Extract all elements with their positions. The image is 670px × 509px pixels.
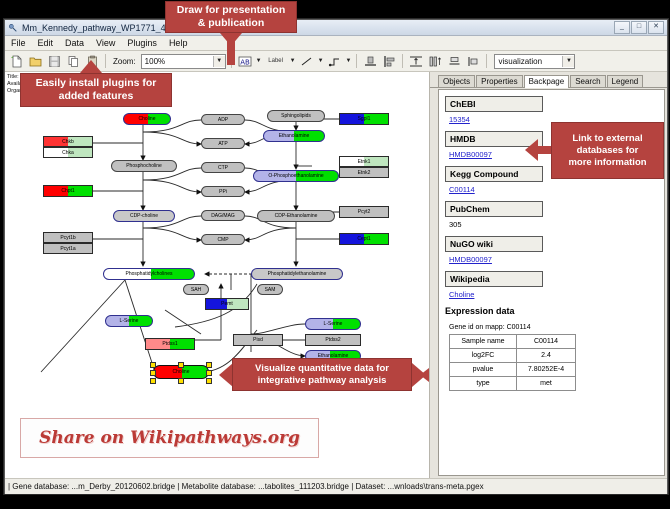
node-phosphatidylethanolamine[interactable]: Phosphatidylethanolamine (251, 268, 343, 280)
minimize-button[interactable]: _ (614, 21, 630, 34)
callout-link-arrow-icon (525, 139, 538, 161)
chevron-down-icon[interactable]: ▼ (213, 56, 225, 67)
pathvisio-app-icon (8, 23, 18, 33)
callout-draw-stem (227, 33, 235, 65)
connector-dropdown-icon[interactable]: ▼ (346, 58, 352, 64)
gene-chpt1[interactable]: Chpt1 (43, 185, 93, 197)
node-label: Pcyt2 (358, 209, 371, 215)
node-label: SAH (191, 287, 201, 293)
node-label: Etnk2 (358, 170, 371, 176)
node-label: CMP (217, 237, 228, 243)
node-label: Ptdss2 (325, 337, 340, 343)
node-dagmag[interactable]: DAG/MAG (201, 210, 245, 221)
toolbar-separator-5 (486, 54, 487, 68)
gene-pcyt1a[interactable]: Pcyt1a (43, 243, 93, 254)
node-label: Choline (139, 116, 156, 122)
menu-help[interactable]: Help (167, 38, 190, 48)
node-label: Pisd (253, 337, 263, 343)
gene-chka[interactable]: Chka (43, 147, 93, 158)
distribute-icon[interactable] (408, 53, 424, 69)
node-o-phosphoethanolamine[interactable]: O-Phosphoethanolamine (253, 170, 339, 182)
node-label: L-Serine (120, 318, 139, 324)
menu-edit[interactable]: Edit (36, 38, 56, 48)
menu-file[interactable]: File (9, 38, 28, 48)
node-sam[interactable]: SAM (257, 284, 283, 295)
share-text: Share on Wikipathways.org (39, 428, 300, 448)
bring-to-front-icon[interactable] (465, 53, 481, 69)
selection-handle-e[interactable] (206, 370, 212, 376)
expression-data-heading: Expression data (445, 306, 664, 316)
node-label: Chpt1 (61, 188, 74, 194)
node-ethanolamine[interactable]: Ethanolamine (263, 130, 325, 142)
node-label: Sgpl1 (358, 116, 371, 122)
visualization-combo[interactable]: visualization ▼ (494, 54, 575, 69)
callout-install-plugins: Easily install plugins for added feature… (20, 73, 172, 107)
table-row: type met (450, 377, 576, 391)
node-adp[interactable]: ADP (201, 114, 245, 125)
status-bar: | Gene database: ...m_Derby_20120602.bri… (5, 478, 667, 494)
node-label: Pcyt1a (60, 246, 75, 252)
open-folder-icon[interactable] (27, 53, 43, 69)
selection-handle-se[interactable] (206, 378, 212, 384)
node-label: L-Serine (324, 321, 343, 327)
gene-sgpl1[interactable]: Sgpl1 (339, 113, 389, 125)
callout-draw-for-publication: Draw for presentation & publication (165, 1, 297, 33)
row-key: log2FC (450, 349, 517, 363)
callout-link-stem (538, 146, 552, 154)
columns-icon[interactable] (427, 53, 443, 69)
node-label: CDP-choline (130, 213, 158, 219)
visualization-value: visualization (498, 57, 542, 66)
callout-visualize-arrow-left-icon (219, 363, 233, 387)
copy-icon[interactable] (65, 53, 81, 69)
node-label: Phosphatidylethanolamine (268, 271, 327, 277)
node-atp[interactable]: ATP (201, 138, 245, 149)
node-label: Phosphocholine (126, 163, 162, 169)
menu-plugins[interactable]: Plugins (125, 38, 159, 48)
table-row: pvalue 7.80252E-4 (450, 363, 576, 377)
node-label: Etnk1 (358, 159, 371, 165)
gene-id-on-mapp: Gene id on mapp: C00114 (449, 324, 664, 331)
node-label: Pemt (221, 301, 233, 307)
gene-pcyt1b[interactable]: Pcyt1b (43, 232, 93, 243)
line-dropdown-icon[interactable]: ▼ (318, 58, 324, 64)
node-sah[interactable]: SAH (183, 284, 209, 295)
toolbar-separator-1 (105, 54, 106, 68)
menu-data[interactable]: Data (63, 38, 86, 48)
node-label: Chkb (62, 139, 74, 145)
node-choline-top[interactable]: Choline (123, 113, 171, 125)
callout-visualize-arrow-right-icon (412, 363, 426, 387)
node-cdp-choline[interactable]: CDP-choline (113, 210, 175, 222)
tab-search[interactable]: Search (570, 75, 605, 87)
node-label: ADP (218, 117, 228, 123)
node-label: CDP-Ethanolamine (275, 213, 318, 219)
db-header-kegg: Kegg Compound (445, 166, 543, 182)
tool-bar: Zoom: 100% ▼ AB ▼ Label ▼ ▼ ▼ (5, 51, 667, 72)
node-label: Ptdss1 (162, 341, 177, 347)
gene-pemt[interactable]: Pemt (205, 298, 249, 310)
node-phosphatidylcholines[interactable]: Phosphatidylcholines (103, 268, 195, 280)
text-label-icon[interactable]: AB (237, 53, 253, 69)
callout-share-wikipathways: Share on Wikipathways.org (20, 418, 319, 458)
gene-ptdss2[interactable]: Ptdss2 (305, 334, 361, 346)
row-value: 2.4 (517, 349, 576, 363)
save-icon[interactable] (46, 53, 62, 69)
db-link-wikipedia[interactable]: Choline (449, 290, 664, 299)
gene-etnk1[interactable]: Etnk1 (339, 156, 389, 167)
node-ctp[interactable]: CTP (201, 162, 245, 173)
row-key: Sample name (450, 335, 517, 349)
node-label: Chka (62, 150, 74, 156)
db-header-nugo: NuGO wiki (445, 236, 543, 252)
row-value: 7.80252E-4 (517, 363, 576, 377)
selection-handle-ne[interactable] (206, 362, 212, 368)
gene-cept1[interactable]: Cept1 (339, 233, 389, 245)
row-key: type (450, 377, 517, 391)
node-label: Sphingolipids (281, 113, 311, 119)
node-sphingolipids[interactable]: Sphingolipids (267, 110, 325, 122)
gene-ptdss1[interactable]: Ptdss1 (145, 338, 195, 350)
zoom-label: Zoom: (113, 57, 136, 66)
menu-bar: File Edit Data View Plugins Help (5, 36, 667, 51)
row-value: C00114 (517, 335, 576, 349)
node-label: CTP (218, 165, 228, 171)
gene-chkb[interactable]: Chkb (43, 136, 93, 147)
new-file-icon[interactable] (8, 53, 24, 69)
tab-objects[interactable]: Objects (438, 75, 475, 87)
canvas-meta-title: Title: (7, 74, 19, 81)
db-header-pubchem: PubChem (445, 201, 543, 217)
callout-line-2: integrative pathway analysis (258, 375, 387, 387)
table-row: Sample name C00114 (450, 335, 576, 349)
connector-icon[interactable] (327, 53, 343, 69)
callout-line-1: Link to external (572, 133, 642, 145)
tab-properties[interactable]: Properties (476, 75, 522, 87)
callout-line-2: added features (59, 90, 134, 103)
node-label: O-Phosphoethanolamine (268, 173, 323, 179)
node-label: DAG/MAG (211, 213, 235, 219)
visualization-chevron-down-icon[interactable]: ▼ (562, 56, 574, 67)
toolbar-separator-3 (356, 54, 357, 68)
node-label: Phosphatidylcholines (126, 271, 173, 277)
node-cmp[interactable]: CMP (201, 234, 245, 245)
db-link-kegg[interactable]: C00114 (449, 185, 664, 194)
node-phosphocholine[interactable]: Phosphocholine (111, 160, 177, 172)
callout-line-2: databases for (577, 145, 639, 157)
db-link-nugo[interactable]: HMDB00097 (449, 255, 664, 264)
status-text: | Gene database: ...m_Derby_20120602.bri… (8, 482, 484, 491)
db-header-wikipedia: Wikipedia (445, 271, 543, 287)
close-button[interactable]: ✕ (648, 21, 664, 34)
menu-view[interactable]: View (94, 38, 117, 48)
window-buttons: _ □ ✕ (614, 21, 664, 34)
line-icon[interactable] (299, 53, 315, 69)
tab-legend[interactable]: Legend (607, 75, 644, 87)
callout-visualize-data: Visualize quantitative data for integrat… (232, 358, 412, 391)
toolbar-separator-4 (402, 54, 403, 68)
callout-line-1: Easily install plugins for (36, 77, 157, 90)
group-icon[interactable] (446, 53, 462, 69)
node-l-serine-left[interactable]: L-Serine (105, 315, 153, 327)
db-header-chebi: ChEBI (445, 96, 543, 112)
node-label: Pcyt1b (60, 235, 75, 241)
screenshot-root: Mm_Kennedy_pathway_WP1771_45176.gpml _ □… (0, 0, 670, 509)
gene-pcyt2[interactable]: Pcyt2 (339, 206, 389, 218)
title-bar: Mm_Kennedy_pathway_WP1771_45176.gpml _ □… (5, 20, 667, 36)
text-label-dropdown-icon[interactable]: ▼ (256, 58, 262, 64)
node-l-serine-right[interactable]: L-Serine (305, 318, 361, 330)
node-cdp-ethanolamine[interactable]: CDP-Ethanolamine (257, 210, 335, 222)
node-label: Choline (173, 369, 190, 375)
gene-pisd[interactable]: Pisd (233, 334, 283, 346)
selection-handle-sw[interactable] (150, 378, 156, 384)
node-ppi[interactable]: PPi (201, 186, 245, 197)
svg-text:AB: AB (240, 58, 250, 66)
zoom-value: 100% (145, 57, 165, 66)
callout-link-external-db: Link to external databases for more info… (551, 122, 664, 179)
gene-etnk2[interactable]: Etnk2 (339, 167, 389, 178)
side-panel-tabs: Objects Properties Backpage Search Legen… (430, 72, 667, 88)
table-row: log2FC 2.4 (450, 349, 576, 363)
db-value-pubchem: 305 (449, 220, 664, 229)
node-label: Ethanolamine (279, 133, 310, 139)
align-bottom-icon[interactable] (362, 53, 378, 69)
selection-handle-nw[interactable] (150, 362, 156, 368)
zoom-combo[interactable]: 100% ▼ (141, 54, 226, 69)
row-key: pvalue (450, 363, 517, 377)
callout-line-2: & publication (198, 17, 265, 30)
selection-handle-s[interactable] (178, 378, 184, 384)
expression-table: Sample name C00114 log2FC 2.4 pvalue 7.8… (449, 334, 576, 391)
align-left-icon[interactable] (381, 53, 397, 69)
row-value: met (517, 377, 576, 391)
label-dropdown-icon[interactable]: ▼ (290, 58, 296, 64)
callout-line-3: more information (568, 157, 646, 169)
node-label: ATP (218, 141, 227, 147)
selection-handle-w[interactable] (150, 370, 156, 376)
node-label: SAM (265, 287, 276, 293)
maximize-button[interactable]: □ (631, 21, 647, 34)
callout-line-1: Draw for presentation (177, 4, 286, 17)
node-label: Cept1 (357, 236, 370, 242)
label-tool[interactable]: Label (265, 53, 287, 69)
callout-line-1: Visualize quantitative data for (255, 363, 389, 375)
tab-backpage[interactable]: Backpage (524, 75, 570, 88)
node-label: PPi (219, 189, 227, 195)
selection-handle-n[interactable] (178, 362, 184, 368)
